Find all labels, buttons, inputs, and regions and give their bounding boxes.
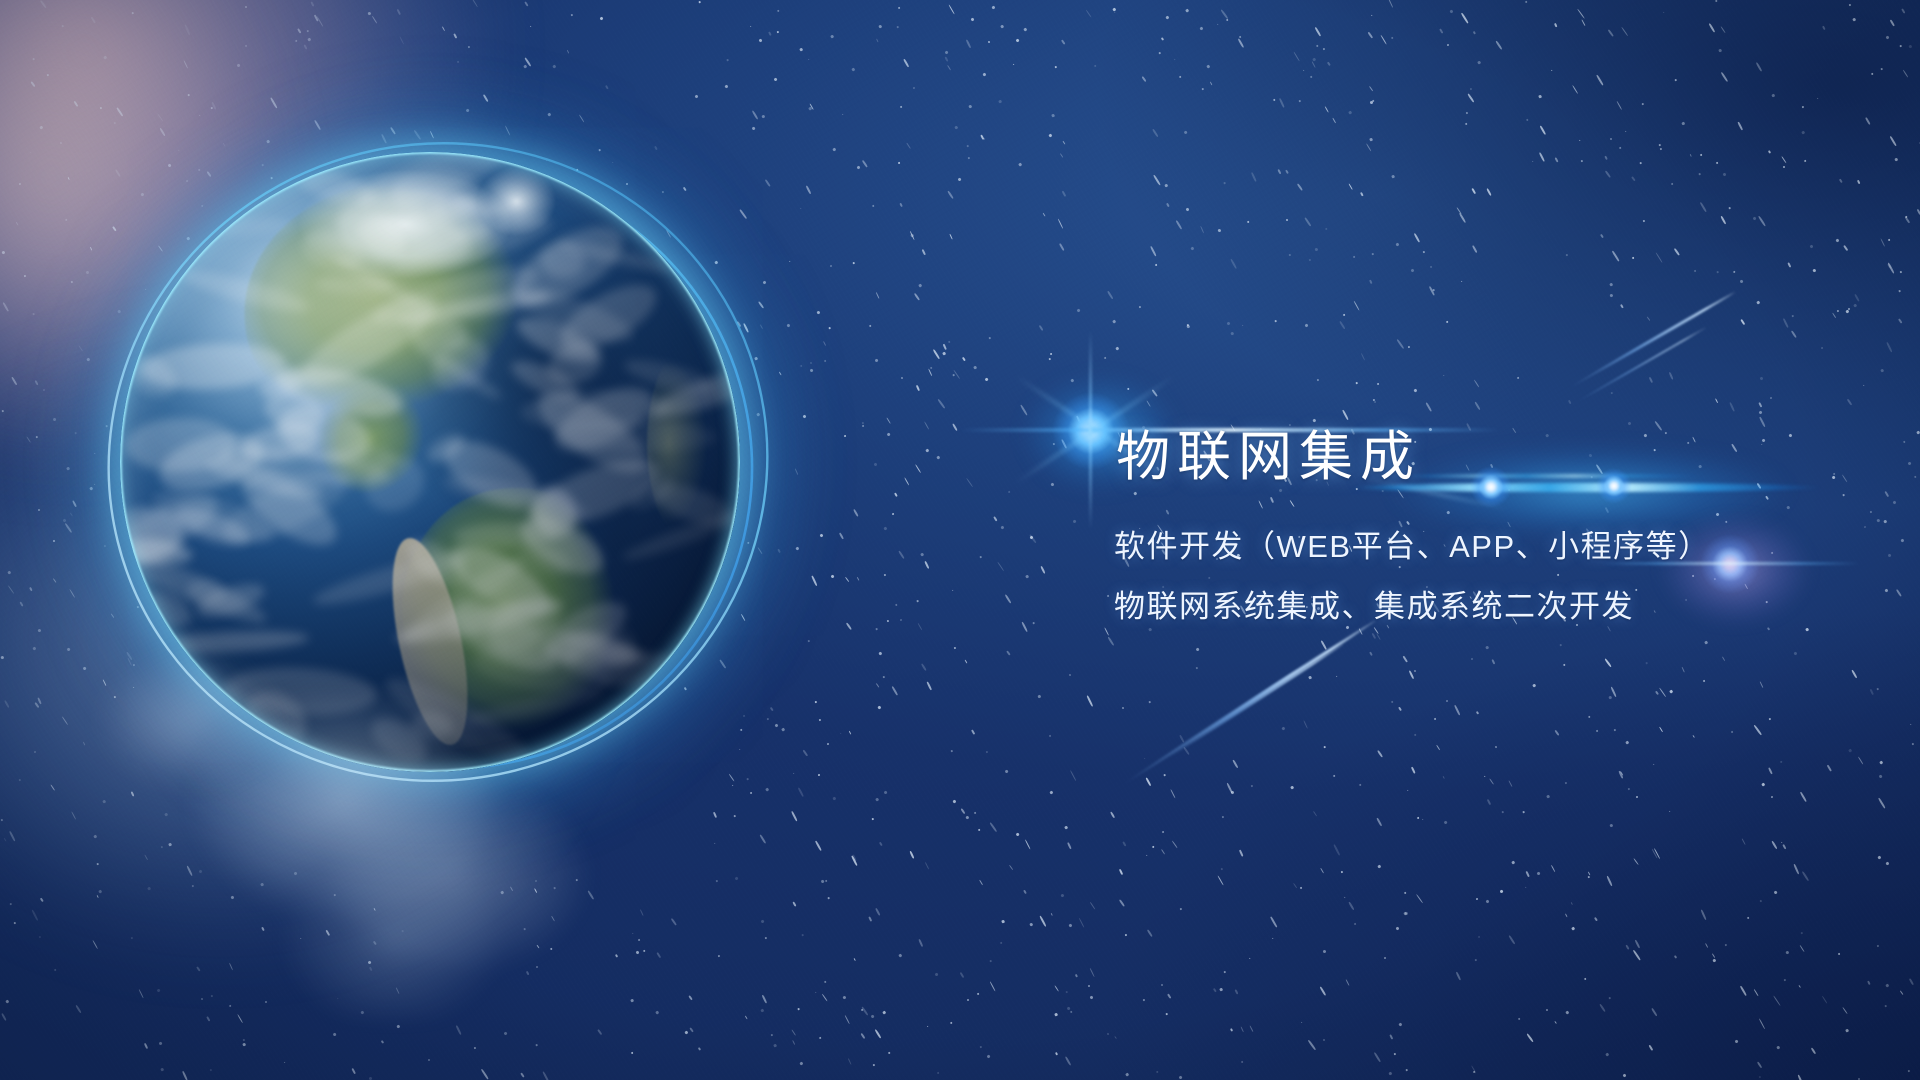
subtitle-line-1: 软件开发（WEB平台、APP、小程序等） xyxy=(1114,528,1711,565)
page-title: 物联网集成 xyxy=(1116,428,1421,486)
lens-flare-purple xyxy=(1640,500,1830,640)
hero-banner: 物联网集成 软件开发（WEB平台、APP、小程序等） 物联网系统集成、集成系统二… xyxy=(0,0,1920,1080)
light-streak-thin xyxy=(1400,474,1700,478)
cloud-mist-reflection-small xyxy=(60,620,320,820)
subtitle-line-2: 物联网系统集成、集成系统二次开发 xyxy=(1114,588,1634,625)
light-streak-node-b xyxy=(1596,468,1632,504)
